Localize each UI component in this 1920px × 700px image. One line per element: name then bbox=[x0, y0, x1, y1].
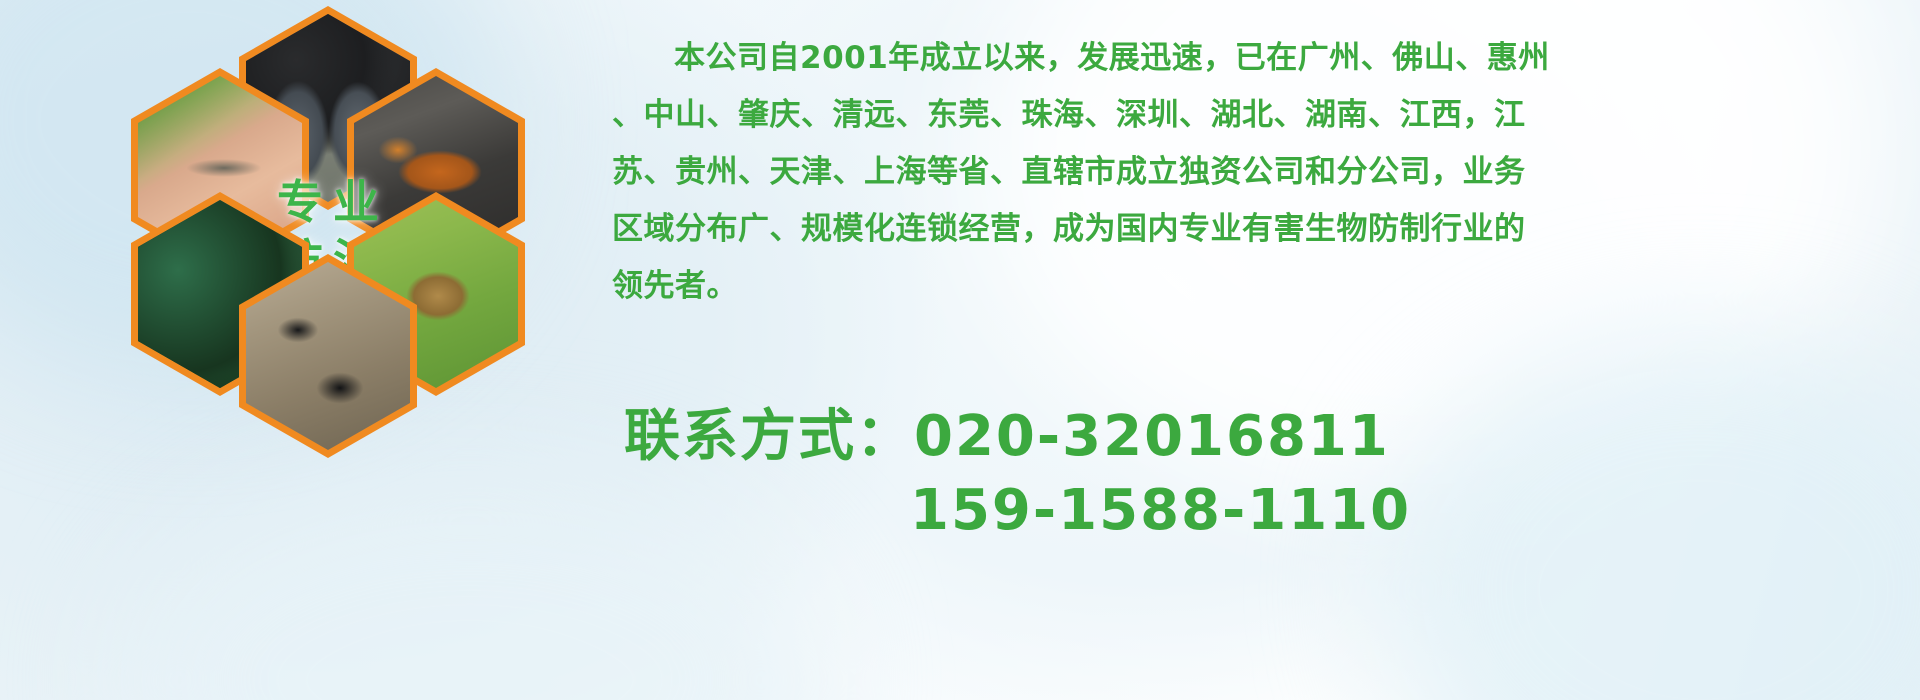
honeycomb-photo-collage: 专业 防治 bbox=[92, 6, 592, 566]
contact-primary-phone[interactable]: 联系方式：020-32016811 bbox=[624, 400, 1914, 474]
ants-photo-icon bbox=[246, 262, 410, 450]
company-description: 本公司自2001年成立以来，发展迅速，已在广州、佛山、惠州 、中山、肇庆、清远、… bbox=[612, 30, 1912, 315]
description-line-1: 本公司自2001年成立以来，发展迅速，已在广州、佛山、惠州 bbox=[612, 30, 1912, 87]
description-line-4: 区域分布广、规模化连锁经营，成为国内专业有害生物防制行业的 bbox=[612, 201, 1912, 258]
brand-word-line1: 专业 bbox=[267, 173, 389, 232]
promo-banner: 专业 防治 本公司自2001年成立以来，发展迅速，已在广州、佛山、惠州 、中山、… bbox=[0, 0, 1920, 700]
description-line-3: 苏、贵州、天津、上海等省、直辖市成立独资公司和分公司，业务 bbox=[612, 144, 1912, 201]
contact-secondary-phone[interactable]: 159-1588-1110 bbox=[624, 474, 1914, 548]
description-line-2: 、中山、肇庆、清远、东莞、珠海、深圳、湖北、湖南、江西，江 bbox=[612, 87, 1912, 144]
description-line-1-text: 本公司自2001年成立以来，发展迅速，已在广州、佛山、惠州 bbox=[674, 40, 1550, 76]
contact-block: 联系方式：020-32016811 159-1588-1110 bbox=[624, 400, 1914, 548]
description-line-5: 领先者。 bbox=[612, 258, 1912, 315]
